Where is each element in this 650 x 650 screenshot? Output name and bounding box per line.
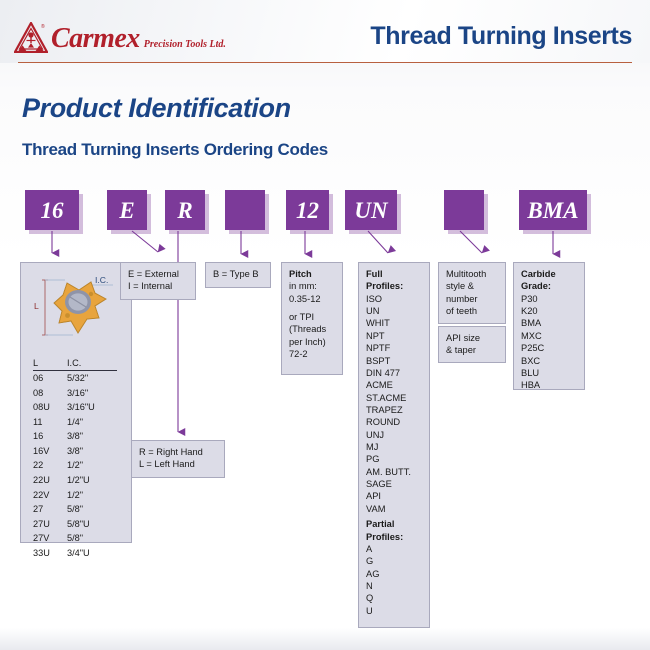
list-item: HBA xyxy=(521,379,578,391)
cell-L: 33U xyxy=(33,545,67,560)
cell-IC: 5/32" xyxy=(67,371,117,386)
cell-IC: 3/16"U xyxy=(67,400,117,415)
list-item: PG xyxy=(366,453,423,465)
list-item: API xyxy=(366,490,423,502)
table-row: 221/2" xyxy=(33,458,117,473)
size-table-body: 065/32" 083/16" 08U3/16"U 111/4" 163/8" … xyxy=(33,371,117,560)
list-item: K20 xyxy=(521,305,578,317)
list-item: UN xyxy=(366,305,423,317)
carbide-heading-line1: Carbide xyxy=(521,268,578,280)
cell-IC: 1/2" xyxy=(67,487,117,502)
pitch-tpi-perinch: per Inch) xyxy=(289,336,336,348)
cell-L: 16V xyxy=(33,444,67,459)
list-item: UNJ xyxy=(366,429,423,441)
table-row: 22U1/2"U xyxy=(33,473,117,488)
full-profiles-heading-line1: Full xyxy=(366,268,423,280)
cell-IC: 3/8" xyxy=(67,429,117,444)
cell-L: 08U xyxy=(33,400,67,415)
table-row: 275/8" xyxy=(33,502,117,517)
partial-profiles-list: A G AG N Q U xyxy=(366,543,423,617)
pitch-mm-unit: in mm: xyxy=(289,280,336,292)
list-item: DIN 477 xyxy=(366,367,423,379)
type-box: B = Type B xyxy=(205,262,271,288)
list-item: NPTF xyxy=(366,342,423,354)
pitch-tpi-label: or TPI xyxy=(289,311,336,323)
table-row: 065/32" xyxy=(33,371,117,386)
list-item: TRAPEZ xyxy=(366,404,423,416)
cell-L: 22U xyxy=(33,473,67,488)
list-item: P30 xyxy=(521,293,578,305)
list-item: MXC xyxy=(521,330,578,342)
cell-L: 06 xyxy=(33,371,67,386)
table-row: 33U3/4"U xyxy=(33,545,117,560)
cell-IC: 3/4"U xyxy=(67,545,117,560)
cell-IC: 3/8" xyxy=(67,444,117,459)
table-header-L: L xyxy=(33,357,67,371)
cell-L: 22 xyxy=(33,458,67,473)
list-item: A xyxy=(366,543,423,555)
table-row: 22V1/2" xyxy=(33,487,117,502)
pitch-box: Pitch in mm: 0.35-12 or TPI (Threads per… xyxy=(281,262,343,375)
cell-IC: 1/2" xyxy=(67,458,117,473)
cell-IC: 5/8" xyxy=(67,502,117,517)
list-item: N xyxy=(366,580,423,592)
list-item: P25C xyxy=(521,342,578,354)
list-item: BSPT xyxy=(366,355,423,367)
list-item: BMA xyxy=(521,317,578,329)
multitooth-line-1: Multitooth xyxy=(446,268,499,280)
carbide-heading-line2: Grade: xyxy=(521,280,578,292)
list-item: AG xyxy=(366,568,423,580)
type-b-line: B = Type B xyxy=(213,268,264,280)
cell-L: 08 xyxy=(33,386,67,401)
partial-profiles-heading-line2: Profiles: xyxy=(366,531,423,543)
list-item: SAGE xyxy=(366,478,423,490)
pitch-heading: Pitch xyxy=(289,268,336,280)
list-item: AM. BUTT. xyxy=(366,466,423,478)
pitch-tpi-range: 72-2 xyxy=(289,348,336,360)
cell-L: 27 xyxy=(33,502,67,517)
table-row: 163/8" xyxy=(33,429,117,444)
table-row: 27V5/8" xyxy=(33,531,117,546)
api-line-2: & taper xyxy=(446,344,499,356)
partial-profiles-heading-line1: Partial xyxy=(366,518,423,530)
cell-L: 27V xyxy=(33,531,67,546)
list-item: MJ xyxy=(366,441,423,453)
list-item: ST.ACME xyxy=(366,392,423,404)
list-item: NPT xyxy=(366,330,423,342)
table-row: 111/4" xyxy=(33,415,117,430)
multitooth-line-3: number xyxy=(446,293,499,305)
list-item: G xyxy=(366,555,423,567)
list-item: WHIT xyxy=(366,317,423,329)
orientation-box: E = External I = Internal xyxy=(120,262,196,300)
full-profiles-heading-line2: Profiles: xyxy=(366,280,423,292)
table-row: 16V3/8" xyxy=(33,444,117,459)
hand-left: L = Left Hand xyxy=(139,458,218,470)
cell-IC: 5/8" xyxy=(67,531,117,546)
size-designation-table: L I.C. 065/32" 083/16" 08U3/16"U 111/4" … xyxy=(33,357,117,560)
cell-IC: 5/8"U xyxy=(67,516,117,531)
list-item: BXC xyxy=(521,355,578,367)
cell-L: 11 xyxy=(33,415,67,430)
api-line-1: API size xyxy=(446,332,499,344)
cell-IC: 1/2"U xyxy=(67,473,117,488)
threading-insert-illustration: L I.C. xyxy=(21,263,133,355)
table-row: 27U5/8"U xyxy=(33,516,117,531)
cell-L: 22V xyxy=(33,487,67,502)
list-item: U xyxy=(366,605,423,617)
insert-dim-L-label: L xyxy=(34,301,39,312)
cell-IC: 3/16" xyxy=(67,386,117,401)
cell-L: 16 xyxy=(33,429,67,444)
orientation-external: E = External xyxy=(128,268,189,280)
cell-IC: 1/4" xyxy=(67,415,117,430)
profiles-box: Full Profiles: ISO UN WHIT NPT NPTF BSPT… xyxy=(358,262,430,628)
carbide-grade-box: Carbide Grade: P30 K20 BMA MXC P25C BXC … xyxy=(513,262,585,390)
multitooth-line-2: style & xyxy=(446,280,499,292)
insert-size-box: L I.C. L I.C. 065/32" 083/16" 08U3/16"U … xyxy=(20,262,132,543)
orientation-internal: I = Internal xyxy=(128,280,189,292)
list-item: ROUND xyxy=(366,416,423,428)
list-item: VAM xyxy=(366,503,423,515)
hand-right: R = Right Hand xyxy=(139,446,218,458)
pitch-mm-range: 0.35-12 xyxy=(289,293,336,305)
pitch-tpi-threads: (Threads xyxy=(289,323,336,335)
list-item: Q xyxy=(366,592,423,604)
carbide-grade-list: P30 K20 BMA MXC P25C BXC BLU HBA xyxy=(521,293,578,392)
hand-direction-box: R = Right Hand L = Left Hand xyxy=(131,440,225,478)
api-size-box: API size & taper xyxy=(438,326,506,363)
insert-dim-IC-label: I.C. xyxy=(95,275,108,286)
table-row: 08U3/16"U xyxy=(33,400,117,415)
cell-L: 27U xyxy=(33,516,67,531)
list-item: ISO xyxy=(366,293,423,305)
list-item: BLU xyxy=(521,367,578,379)
multitooth-box: Multitooth style & number of teeth xyxy=(438,262,506,324)
multitooth-line-4: of teeth xyxy=(446,305,499,317)
table-header-IC: I.C. xyxy=(67,357,117,371)
full-profiles-list: ISO UN WHIT NPT NPTF BSPT DIN 477 ACME S… xyxy=(366,293,423,515)
table-row: 083/16" xyxy=(33,386,117,401)
list-item: ACME xyxy=(366,379,423,391)
